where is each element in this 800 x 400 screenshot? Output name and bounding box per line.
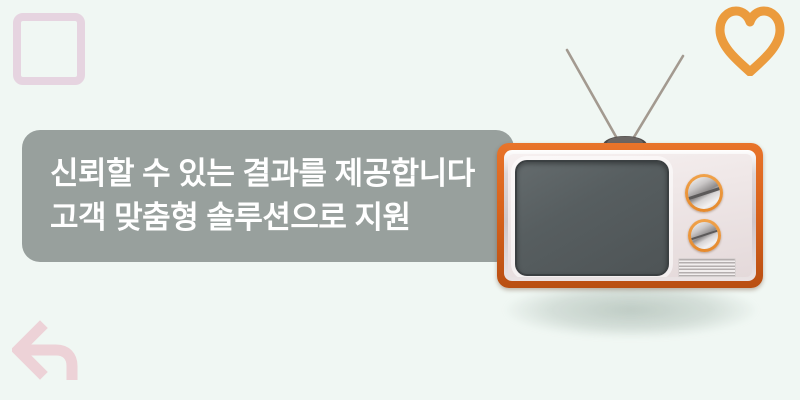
headline-plate: 신뢰할 수 있는 결과를 제공합니다 고객 맞춤형 솔루션으로 지원 (22, 130, 514, 262)
tv-antenna-icon (555, 44, 695, 154)
tv-knob-lower[interactable] (688, 219, 721, 252)
square-outline-icon (13, 13, 85, 85)
tv-speaker-grille (678, 258, 736, 277)
tv-screen (515, 160, 669, 276)
tv-ground-shadow (505, 282, 757, 338)
return-arrow-icon (12, 318, 90, 384)
tv-knob-upper[interactable] (685, 174, 723, 212)
tv-cabinet (508, 154, 752, 277)
tv-knob-lower-dial (691, 222, 718, 249)
promo-banner: 신뢰할 수 있는 결과를 제공합니다 고객 맞춤형 솔루션으로 지원 (0, 0, 800, 400)
tv-bezel (504, 150, 756, 281)
tv-outer-frame (497, 143, 763, 288)
headline-line-1: 신뢰할 수 있는 결과를 제공합니다 (50, 152, 514, 196)
tv-knob-upper-dial (688, 177, 720, 209)
headline-line-2: 고객 맞춤형 솔루션으로 지원 (50, 196, 514, 240)
retro-television-illustration (497, 44, 763, 344)
